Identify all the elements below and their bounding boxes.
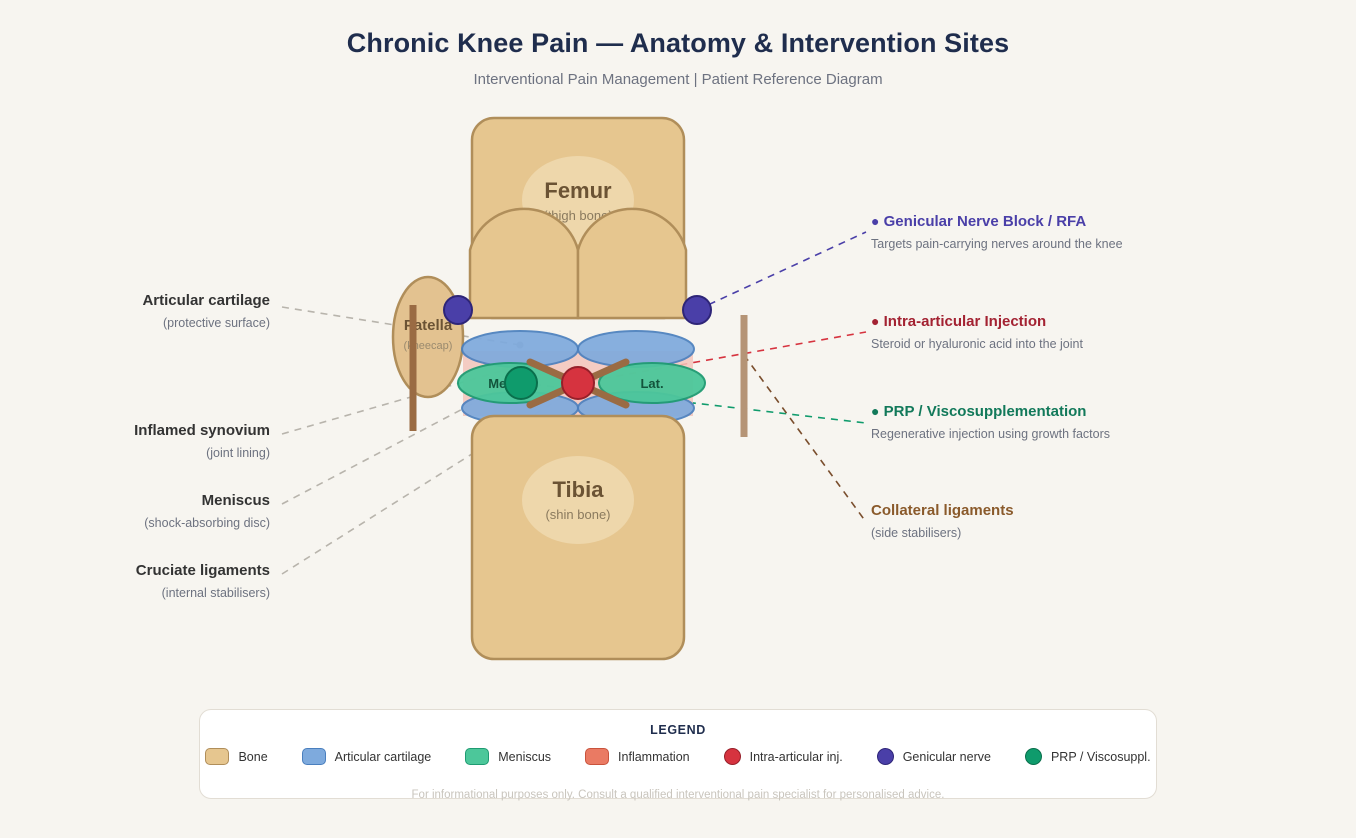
annotation-title: Inflamed synovium <box>70 421 270 441</box>
legend-swatch-rect-icon <box>205 748 229 765</box>
annotation-subtitle: (side stabilisers) <box>871 524 1014 542</box>
annotation-title-row: ● PRP / Viscosupplementation <box>871 401 1110 422</box>
annotation-intra-articular-injection: ● Intra-articular Injection Steroid or h… <box>871 311 1083 353</box>
annotation-subtitle: Regenerative injection using growth fact… <box>871 425 1110 443</box>
femoral-condyle-lateral <box>578 209 686 318</box>
legend-item: Inflammation <box>585 748 690 765</box>
tibia-label: Tibia <box>553 477 605 502</box>
annotation-genicular-nerve-block: ● Genicular Nerve Block / RFA Targets pa… <box>871 211 1123 253</box>
genicular-nerve-site-lateral[interactable] <box>683 296 711 324</box>
legend-item-label: Intra-articular inj. <box>750 750 843 764</box>
legend-item: Meniscus <box>465 748 551 765</box>
legend-title: LEGEND <box>200 723 1156 737</box>
legend-items: BoneArticular cartilageMeniscusInflammat… <box>200 748 1156 765</box>
legend-item-label: Genicular nerve <box>903 750 991 764</box>
patella-bone <box>393 277 463 397</box>
annotation-subtitle: (protective surface) <box>70 314 270 332</box>
prp-injection-site[interactable] <box>505 367 537 399</box>
legend-item: Bone <box>205 748 267 765</box>
annotation-articular-cartilage: Articular cartilage (protective surface) <box>70 291 270 332</box>
legend-item-label: Bone <box>238 750 267 764</box>
meniscus-lateral-label: Lat. <box>640 376 663 391</box>
annotation-title: PRP / Viscosupplementation <box>884 403 1087 420</box>
annotation-title-row: ● Genicular Nerve Block / RFA <box>871 211 1123 232</box>
leader-genicular-nerve <box>697 232 866 310</box>
annotation-title: Articular cartilage <box>70 291 270 311</box>
legend-item-label: Inflammation <box>618 750 690 764</box>
legend-item: Articular cartilage <box>302 748 432 765</box>
tibia-sublabel: (shin bone) <box>545 507 610 522</box>
articular-cartilage-femoral-medial <box>462 331 578 367</box>
annotation-meniscus: Meniscus (shock-absorbing disc) <box>70 491 270 532</box>
prp-bullet-icon: ● <box>871 403 879 419</box>
annotation-prp-viscosupplementation: ● PRP / Viscosupplementation Regenerativ… <box>871 401 1110 443</box>
annotation-cruciate-ligaments: Cruciate ligaments (internal stabilisers… <box>70 561 270 602</box>
legend-swatch-circle-icon <box>877 748 894 765</box>
diagram-root: Chronic Knee Pain — Anatomy & Interventi… <box>0 0 1356 838</box>
legend-item-label: PRP / Viscosuppl. <box>1051 750 1151 764</box>
intra-articular-bullet-icon: ● <box>871 313 879 329</box>
legend-item-label: Meniscus <box>498 750 551 764</box>
leader-collateral-ligaments <box>744 355 866 522</box>
legend-item: Intra-articular inj. <box>724 748 843 765</box>
annotation-title: Intra-articular Injection <box>884 313 1047 330</box>
annotation-title: Genicular Nerve Block / RFA <box>884 213 1087 230</box>
annotation-title-row: Collateral ligaments <box>871 501 1014 521</box>
articular-cartilage-femoral-lateral <box>578 331 694 367</box>
femoral-condyle-medial <box>470 209 578 318</box>
annotation-title: Collateral ligaments <box>871 502 1014 519</box>
legend-swatch-rect-icon <box>585 748 609 765</box>
annotation-collateral-ligaments: Collateral ligaments (side stabilisers) <box>871 501 1014 542</box>
annotation-subtitle: (shock-absorbing disc) <box>70 514 270 532</box>
intra-articular-injection-site[interactable] <box>562 367 594 399</box>
annotation-title-row: ● Intra-articular Injection <box>871 311 1083 332</box>
annotation-inflamed-synovium: Inflamed synovium (joint lining) <box>70 421 270 462</box>
legend-swatch-rect-icon <box>302 748 326 765</box>
legend-item: Genicular nerve <box>877 748 991 765</box>
disclaimer-text: For informational purposes only. Consult… <box>0 789 1356 801</box>
legend-item-label: Articular cartilage <box>335 750 432 764</box>
annotation-subtitle: (internal stabilisers) <box>70 584 270 602</box>
legend-swatch-circle-icon <box>724 748 741 765</box>
genicular-nerve-bullet-icon: ● <box>871 213 879 229</box>
annotation-subtitle: Targets pain-carrying nerves around the … <box>871 235 1123 253</box>
femur-label: Femur <box>544 178 612 203</box>
legend-swatch-rect-icon <box>465 748 489 765</box>
annotation-subtitle: Steroid or hyaluronic acid into the join… <box>871 335 1083 353</box>
legend-item: PRP / Viscosuppl. <box>1025 748 1151 765</box>
annotation-title: Meniscus <box>70 491 270 511</box>
annotation-subtitle: (joint lining) <box>70 444 270 462</box>
legend-swatch-circle-icon <box>1025 748 1042 765</box>
genicular-nerve-site-medial[interactable] <box>444 296 472 324</box>
legend-panel: LEGEND BoneArticular cartilageMeniscusIn… <box>199 709 1157 799</box>
annotation-title: Cruciate ligaments <box>70 561 270 581</box>
